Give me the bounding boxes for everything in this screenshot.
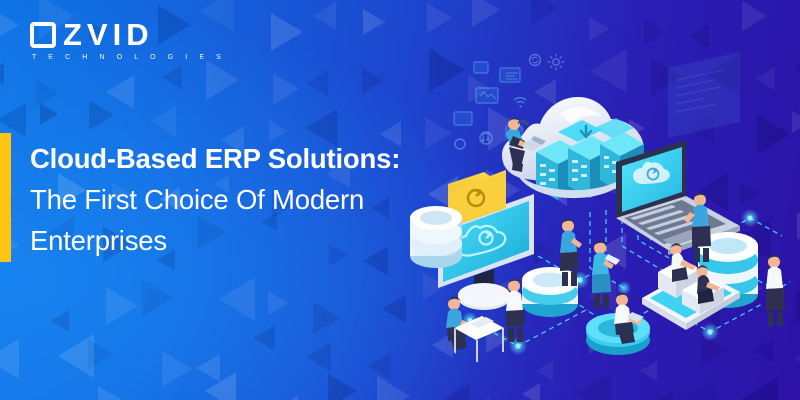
background-triangle [328,374,357,400]
background-triangle [40,103,58,125]
accent-bar [0,133,11,262]
background-triangle [313,2,336,30]
background-triangle [427,3,452,33]
background-triangle [162,65,182,89]
background-triangle [268,291,288,315]
background-triangle [472,0,500,27]
background-code-panel [668,52,740,138]
background-triangle [273,396,298,400]
background-triangle [0,394,14,400]
logo[interactable]: ZVID T E C H N O L O G I E S [30,22,226,61]
background-triangle [271,13,303,51]
banner: ZVID T E C H N O L O G I E S Cloud-Based… [0,0,800,400]
background-triangle [0,103,26,137]
logo-row: ZVID [30,22,226,48]
background-triangle [273,73,299,105]
person-standing-e [766,255,785,326]
background-triangle [150,105,176,137]
background-triangle [162,351,192,387]
logo-o-mark-icon [30,22,56,48]
background-triangle [50,310,69,332]
page-title: Cloud-Based ERP Solutions: The First Cho… [30,138,450,261]
headline-line-1: Cloud-Based ERP Solutions: [30,138,450,179]
background-triangle [742,1,767,31]
background-triangle [88,339,113,369]
background-triangle [362,68,383,94]
background-triangle [106,287,138,325]
background-triangle [589,17,609,41]
background-triangle [219,277,255,321]
background-triangle [382,295,406,323]
background-triangle [377,376,410,400]
background-triangle [0,63,4,85]
background-triangle [206,60,239,100]
headline-line-2: The First Choice Of Modern [30,179,450,220]
background-triangle [205,372,236,400]
background-triangle [253,325,275,351]
background-triangle [89,100,114,130]
background-triangle [531,0,558,24]
background-triangle [313,302,340,334]
background-triangle [307,70,328,96]
database-cylinder-left [410,206,462,268]
logo-wordmark: ZVID [63,22,154,48]
background-triangle [98,386,122,400]
headline-line-3: Enterprises [30,220,450,261]
background-triangle [306,342,331,372]
logo-tagline: T E C H N O L O G I E S [32,54,226,61]
background-triangle [643,391,673,400]
database-cylinder-center [522,267,578,317]
background-triangle [0,339,19,379]
background-triangle [142,279,173,317]
background-triangle [0,12,19,38]
isometric-cloud-erp-illustration [410,40,800,390]
background-triangle [363,9,385,35]
